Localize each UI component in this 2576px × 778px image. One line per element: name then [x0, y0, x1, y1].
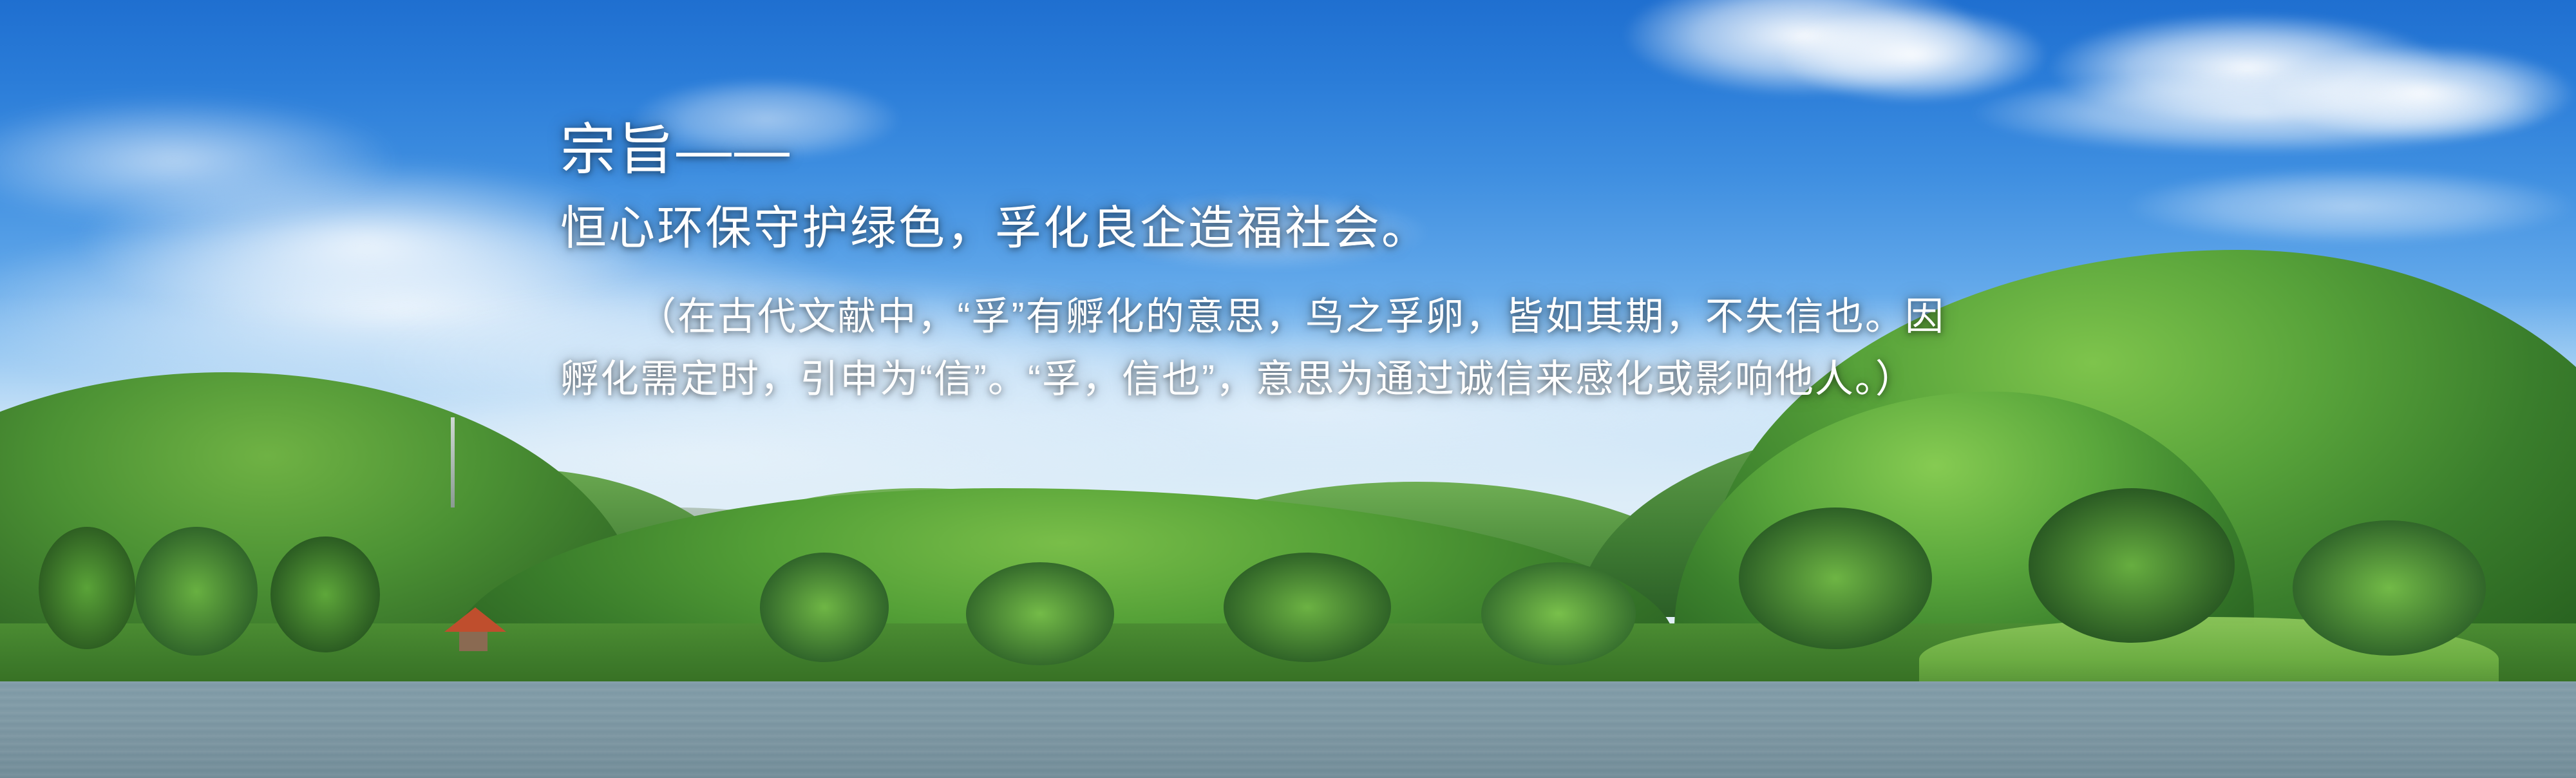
- hero-banner: 宗旨—— 恒心环保守护绿色，孚化良企造福社会。 （在古代文献中，“孚”有孵化的意…: [0, 0, 2576, 778]
- pavilion-roof: [444, 607, 506, 632]
- banner-text-block: 宗旨—— 恒心环保守护绿色，孚化良企造福社会。 （在古代文献中，“孚”有孵化的意…: [560, 122, 2041, 411]
- banner-headline: 宗旨——: [560, 122, 2041, 178]
- communication-tower: [451, 417, 455, 508]
- lake-water: [0, 681, 2576, 778]
- banner-slogan: 恒心环保守护绿色，孚化良企造福社会。: [560, 204, 2041, 254]
- pavilion-body: [459, 632, 488, 651]
- banner-note: （在古代文献中，“孚”有孵化的意思，鸟之孚卵，皆如其期，不失信也。因孵化需定时，…: [560, 285, 1945, 410]
- red-roof-pavilion: [444, 607, 502, 652]
